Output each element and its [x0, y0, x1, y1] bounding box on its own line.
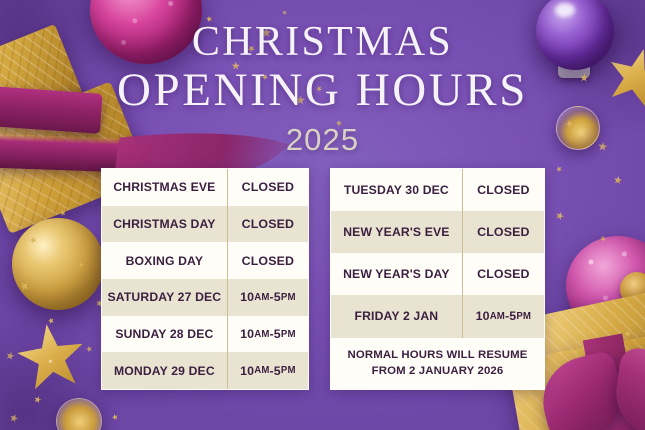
bauble-gold-bottom-left [12, 218, 104, 310]
star-confetti-icon [555, 165, 563, 173]
star-confetti-icon [623, 329, 632, 338]
table-cell-hours: CLOSED [227, 206, 308, 243]
table-row: NEW YEAR'S DAYCLOSED [331, 253, 544, 295]
bow-loop-left-magenta [534, 349, 630, 430]
table-cell-day: CHRISTMAS DAY [102, 206, 227, 243]
table-cell-hours: 10AM-5PM [227, 279, 308, 316]
table-cell-hours: CLOSED [462, 253, 544, 295]
table-cell-day: CHRISTMAS EVE [102, 169, 227, 206]
star-confetti-icon [33, 395, 43, 405]
table-cell-hours: CLOSED [462, 169, 544, 211]
table-cell-hours: CLOSED [227, 242, 308, 279]
star-gold-glitter-bottom-left [14, 320, 88, 393]
poster-header: CHRISTMAS OPENING HOURS 2025 [0, 22, 645, 158]
table-cell-hours: CLOSED [227, 169, 308, 206]
opening-hours-tables: CHRISTMAS EVECLOSEDCHRISTMAS DAYCLOSEDBO… [101, 168, 545, 390]
star-confetti-icon [556, 212, 565, 221]
star-confetti-icon [571, 347, 579, 355]
table-cell-day: FRIDAY 2 JAN [331, 295, 462, 337]
table-cell-day: SATURDAY 27 DEC [102, 279, 227, 316]
star-confetti-icon [47, 317, 54, 324]
table-cell-day: NEW YEAR'S EVE [331, 211, 462, 253]
gift-box-lid [528, 283, 645, 368]
table-cell-hours: 10AM-5PM [227, 352, 308, 389]
star-confetti-icon [111, 413, 118, 420]
star-confetti-icon [4, 350, 15, 361]
star-confetti-icon [86, 346, 92, 352]
opening-hours-table-right: TUESDAY 30 DECCLOSEDNEW YEAR'S EVECLOSED… [330, 168, 545, 390]
star-confetti-icon [78, 262, 85, 269]
table-row: CHRISTMAS DAYCLOSED [102, 206, 308, 243]
resume-note: NORMAL HOURS WILL RESUMEFROM 2 JANUARY 2… [331, 338, 544, 389]
page-title-line2: OPENING HOURS [0, 67, 645, 113]
table-cell-day: TUESDAY 30 DEC [331, 169, 462, 211]
bauble-gold-small-bottom-right [620, 272, 645, 306]
star-confetti-icon [29, 235, 39, 245]
star-confetti-icon [599, 235, 606, 242]
table-cell-hours: 10AM-5PM [227, 316, 308, 353]
bow-loop-right-magenta [610, 346, 645, 430]
star-confetti-icon [59, 209, 67, 217]
star-confetti-icon [613, 175, 622, 184]
table-row: FRIDAY 2 JAN10AM-5PM [331, 295, 544, 337]
table-row: NEW YEAR'S EVECLOSED [331, 211, 544, 253]
table-row: SATURDAY 27 DEC10AM-5PM [102, 279, 308, 316]
page-title-line1: CHRISTMAS [0, 22, 645, 63]
page-title-year: 2025 [0, 122, 645, 158]
table-row: SUNDAY 28 DEC10AM-5PM [102, 316, 308, 353]
bow-tail-magenta [548, 400, 645, 430]
table-row: CHRISTMAS EVECLOSED [102, 169, 308, 206]
bauble-pink-glitter-bottom-right [566, 236, 645, 336]
bauble-gold-fleck-bottom-left [56, 398, 102, 430]
christmas-opening-hours-poster: CHRISTMAS OPENING HOURS 2025 CHRISTMAS E… [0, 0, 645, 430]
table-cell-day: MONDAY 29 DEC [102, 352, 227, 389]
table-row: BOXING DAYCLOSED [102, 242, 308, 279]
ribbon-band-magenta [583, 334, 645, 430]
table-cell-hours: CLOSED [462, 211, 544, 253]
table-cell-hours: 10AM-5PM [462, 295, 544, 337]
table-row: MONDAY 29 DEC10AM-5PM [102, 352, 308, 389]
opening-hours-table-left: CHRISTMAS EVECLOSEDCHRISTMAS DAYCLOSEDBO… [101, 168, 309, 390]
table-row: TUESDAY 30 DECCLOSED [331, 169, 544, 211]
star-confetti-icon [9, 413, 19, 423]
resume-note-text: NORMAL HOURS WILL RESUMEFROM 2 JANUARY 2… [347, 347, 527, 380]
table-cell-day: BOXING DAY [102, 242, 227, 279]
star-confetti-icon [18, 280, 30, 292]
table-cell-day: NEW YEAR'S DAY [331, 253, 462, 295]
table-cell-day: SUNDAY 28 DEC [102, 316, 227, 353]
star-confetti-icon [281, 9, 288, 16]
